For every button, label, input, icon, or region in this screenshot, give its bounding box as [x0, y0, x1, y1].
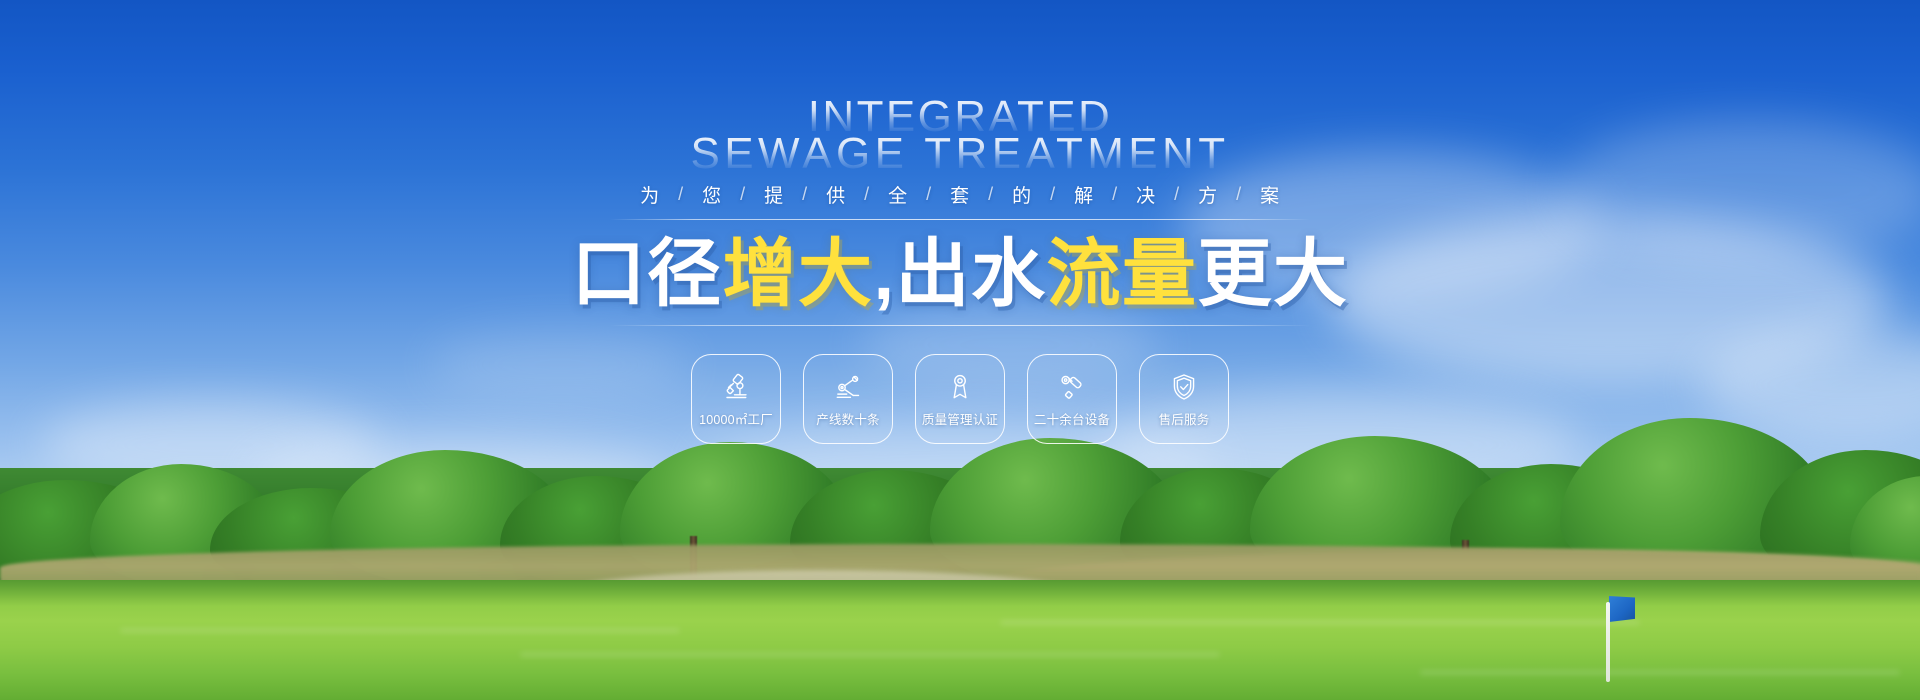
slogan-separator: / [1224, 184, 1254, 205]
feature-badge-label: 产线数十条 [816, 409, 880, 428]
slogan-char: 提 [758, 181, 790, 208]
english-line-2: SEWAGE TREATMENT [691, 133, 1230, 174]
equipment-icon [1056, 371, 1088, 403]
slogan-char: 方 [1192, 181, 1224, 208]
feature-badge-row: 10000㎡工厂产线数十条质量管理认证二十余台设备售后服务 [691, 354, 1229, 444]
slogan-separator: / [852, 184, 882, 205]
slogan-separator: / [914, 184, 944, 205]
production-line-icon [832, 371, 864, 403]
slogan-separator: / [976, 184, 1006, 205]
slogan-char: 您 [696, 181, 728, 208]
slogan-char: 供 [820, 181, 852, 208]
hero-banner: INTEGRATED SEWAGE TREATMENT 为/您/提/供/全/套/… [0, 0, 1920, 700]
headline-segment: 更大 [1197, 235, 1348, 313]
feature-badge[interactable]: 二十余台设备 [1027, 354, 1117, 444]
feature-badge[interactable]: 质量管理认证 [915, 354, 1005, 444]
slogan-char: 决 [1130, 181, 1162, 208]
slogan-char: 的 [1006, 181, 1038, 208]
slogan-char: 全 [882, 181, 914, 208]
feature-badge-label: 售后服务 [1159, 409, 1210, 428]
slogan-char: 解 [1068, 181, 1100, 208]
feature-badge[interactable]: 售后服务 [1139, 354, 1229, 444]
page-title: 口径增大,出水流量更大 [572, 235, 1349, 313]
feature-badge-label: 质量管理认证 [922, 409, 998, 428]
slogan-separator: / [666, 184, 696, 205]
slogan-slash-row: 为/您/提/供/全/套/的/解/决/方/案 [634, 181, 1286, 208]
feature-badge[interactable]: 10000㎡工厂 [691, 354, 781, 444]
feature-badge-label: 10000㎡工厂 [699, 409, 773, 428]
divider-below-headline [610, 325, 1310, 326]
headline-segment: , [873, 235, 895, 313]
quality-certificate-icon [944, 371, 976, 403]
headline-segment: 口径 [572, 235, 723, 313]
headline-segment: 流量 [1047, 235, 1198, 313]
slogan-separator: / [1100, 184, 1130, 205]
microscope-icon [720, 371, 752, 403]
english-wordmark: INTEGRATED SEWAGE TREATMENT [691, 96, 1230, 175]
slogan-separator: / [790, 184, 820, 205]
headline-segment: 出水 [896, 235, 1047, 313]
slogan-char: 为 [634, 181, 666, 208]
shield-check-icon [1168, 371, 1200, 403]
slogan-separator: / [728, 184, 758, 205]
slogan-separator: / [1038, 184, 1068, 205]
slogan-char: 套 [944, 181, 976, 208]
feature-badge[interactable]: 产线数十条 [803, 354, 893, 444]
feature-badge-label: 二十余台设备 [1034, 409, 1110, 428]
divider-above-headline [610, 219, 1310, 220]
slogan-separator: / [1162, 184, 1192, 205]
banner-content: INTEGRATED SEWAGE TREATMENT 为/您/提/供/全/套/… [0, 0, 1920, 700]
headline-segment: 增大 [723, 235, 874, 313]
slogan-char: 案 [1254, 181, 1286, 208]
